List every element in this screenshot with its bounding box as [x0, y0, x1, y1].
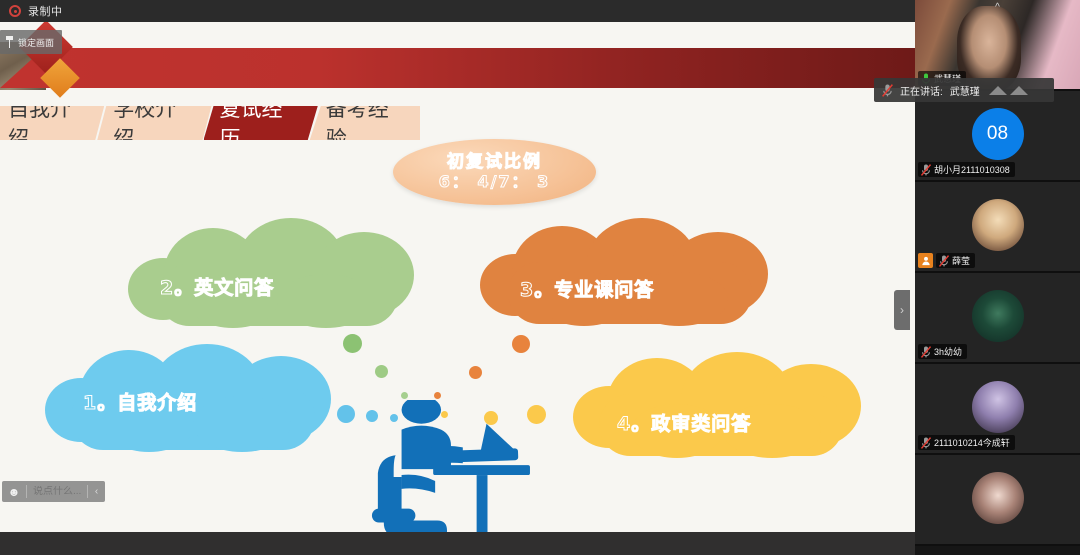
mic-off-icon — [882, 84, 893, 97]
panel-collapse-handle[interactable]: › — [894, 290, 910, 330]
chat-input-bar[interactable]: ☻ ‹ — [2, 481, 105, 502]
dot-orange-tiny — [434, 392, 441, 399]
shared-slide: 自我介绍 学校介绍 复试经历 备考经验 初复试比例 6： 4/7： 3 2。英文… — [0, 22, 915, 532]
participant-name: 2111010214今成轩 — [934, 436, 1010, 449]
participant-name-tag: 3h幼幼 — [918, 344, 967, 359]
ratio-value: 6： 4/7： 3 — [439, 173, 551, 191]
audio-wave-icon — [989, 86, 1028, 95]
cloud-english-qa: 2。英文问答 — [128, 218, 420, 330]
avatar — [972, 199, 1024, 251]
participant-name-tag: 薛莹 — [936, 253, 975, 268]
tab-interview-experience[interactable]: 复试经历 — [204, 106, 318, 140]
mic-off-icon — [921, 164, 931, 176]
active-speaker-banner: 正在讲话: 武慧瑾 — [874, 78, 1054, 102]
dot-orange-medium — [469, 366, 482, 379]
cloud-label-english-qa: 2。英文问答 — [160, 273, 274, 300]
host-person-icon — [921, 256, 931, 266]
dot-green-large — [343, 334, 362, 353]
participant-name: 薛莹 — [952, 254, 970, 267]
cloud-shape — [573, 352, 865, 462]
dot-orange-large — [512, 335, 530, 353]
cloud-shape — [480, 218, 775, 328]
participant-name: 3h幼幼 — [934, 345, 962, 358]
participant-tile[interactable]: 3h幼幼 — [915, 273, 1080, 364]
participant-name-tag: 胡小月2111010308 — [918, 162, 1015, 177]
tab-self-intro[interactable]: 自我介绍 — [0, 106, 104, 140]
avatar — [972, 472, 1024, 524]
mic-off-icon — [921, 437, 931, 449]
cloud-label-major-qa: 3。专业课问答 — [520, 275, 654, 302]
meeting-screen: 录制中 自我介绍 学校介绍 复试经历 备考经验 初复试比例 6： 4/7： 3 — [0, 0, 1080, 555]
participant-tile[interactable] — [915, 455, 1080, 546]
tab-school-intro[interactable]: 学校介绍 — [97, 106, 211, 140]
participant-name-tag: 2111010214今成轩 — [918, 435, 1015, 450]
ratio-title: 初复试比例 — [447, 153, 542, 173]
host-badge — [918, 253, 933, 268]
mic-off-icon — [939, 255, 949, 267]
dot-green-tiny — [401, 392, 408, 399]
slide-banner — [0, 48, 915, 88]
lock-screen-label: 锁定画面 — [18, 36, 54, 49]
participant-tile[interactable]: 2111010214今成轩 — [915, 364, 1080, 455]
cloud-label-political-review-qa: 4。政审类问答 — [617, 409, 751, 436]
dot-green-small — [375, 365, 388, 378]
pin-icon — [5, 36, 14, 48]
participant-tile[interactable]: 08 胡小月2111010308 — [915, 91, 1080, 182]
recording-label: 录制中 — [28, 3, 63, 19]
participant-name: 胡小月2111010308 — [934, 163, 1010, 176]
record-icon — [9, 5, 21, 17]
cloud-major-qa: 3。专业课问答 — [480, 218, 775, 328]
cloud-label-self-intro: 1。自我介绍 — [83, 388, 197, 415]
avatar — [972, 290, 1024, 342]
recording-bar: 录制中 — [0, 0, 915, 22]
avatar — [972, 381, 1024, 433]
person-at-desk-illustration — [337, 400, 557, 532]
lock-screen-button[interactable]: 锁定画面 — [0, 30, 62, 54]
participant-tile[interactable]: 薛莹 — [915, 182, 1080, 273]
chat-input[interactable] — [27, 486, 87, 497]
slide-tabs: 自我介绍 学校介绍 复试经历 备考经验 — [0, 106, 420, 140]
collapse-chat-icon[interactable]: ‹ — [88, 486, 105, 497]
avatar: 08 — [972, 108, 1024, 160]
mic-off-icon — [921, 346, 931, 358]
ratio-ellipse: 初复试比例 6： 4/7： 3 — [393, 139, 596, 205]
tab-prep-experience[interactable]: 备考经验 — [310, 106, 420, 140]
emoji-icon[interactable]: ☻ — [2, 485, 26, 499]
chevron-right-icon: › — [900, 304, 904, 316]
speaking-name: 武慧瑾 — [950, 83, 980, 98]
cloud-self-intro: 1。自我介绍 — [45, 344, 335, 456]
cloud-political-review-qa: 4。政审类问答 — [573, 352, 865, 462]
avatar-initials: 08 — [987, 123, 1008, 145]
bottom-toolbar — [0, 532, 915, 555]
scroll-up-icon[interactable]: ^ — [995, 2, 1000, 13]
speaking-prefix: 正在讲话: — [900, 83, 943, 98]
